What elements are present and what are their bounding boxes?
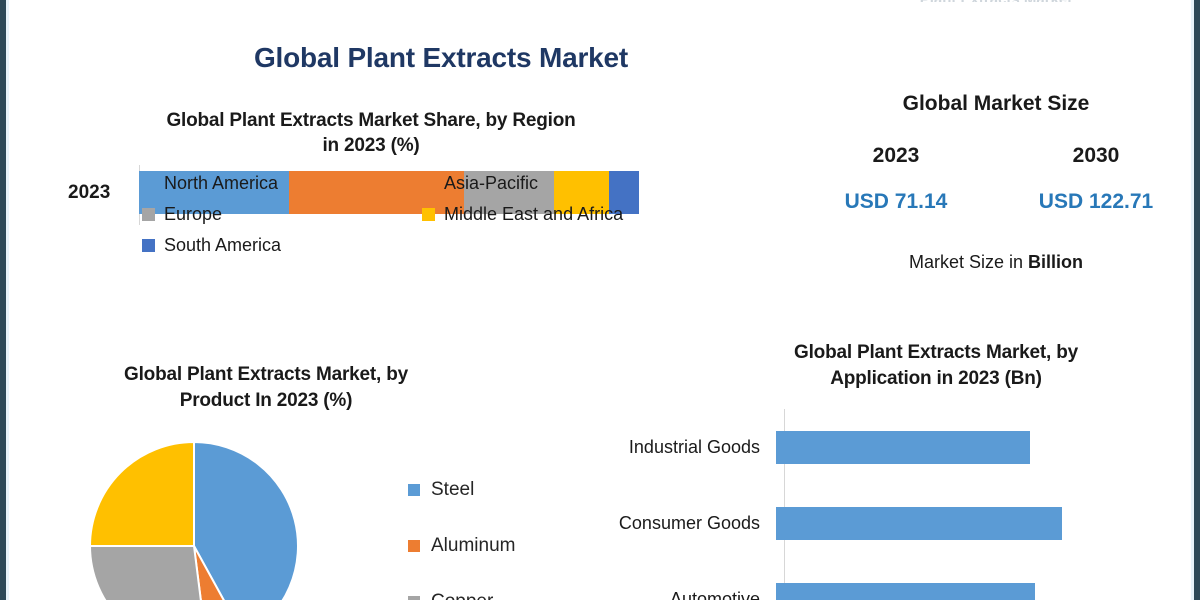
share-legend-item: South America xyxy=(142,230,422,261)
application-bar xyxy=(776,583,1035,600)
application-panel: Global Plant Extracts Market, by Applica… xyxy=(606,340,1196,600)
share-legend-label: Asia-Pacific xyxy=(444,173,538,194)
product-share-panel: Global Plant Extracts Market, by Product… xyxy=(36,362,596,413)
market-share-title: Global Plant Extracts Market Share, by R… xyxy=(46,108,696,159)
market-size-footnote: Market Size in Billion xyxy=(796,252,1196,273)
market-size-values-row: USD 71.14 USD 122.71 xyxy=(796,190,1196,214)
legend-swatch-icon xyxy=(422,208,435,221)
legend-swatch-icon xyxy=(422,177,435,190)
product-share-title-line2: Product In 2023 (%) xyxy=(36,388,496,414)
global-market-size-panel: Global Market Size 2023 2030 USD 71.14 U… xyxy=(796,92,1196,273)
pie-slice-copper xyxy=(90,546,207,600)
application-category-label: Industrial Goods xyxy=(606,437,776,458)
global-market-size-title: Global Market Size xyxy=(796,92,1196,116)
cropped-header-text: Plant Extracts Market xyxy=(886,0,1106,2)
share-legend-item: North America xyxy=(142,168,422,199)
product-pie-legend: SteelAluminumCopper xyxy=(408,462,515,600)
application-plot: Industrial GoodsConsumer GoodsAutomotive xyxy=(606,409,1196,600)
share-legend-item: Europe xyxy=(142,199,422,230)
product-legend-label: Aluminum xyxy=(431,535,515,557)
application-bar-row: Consumer Goods xyxy=(606,485,1196,561)
share-legend-label: North America xyxy=(164,173,278,194)
product-share-title-line1: Global Plant Extracts Market, by xyxy=(36,362,496,388)
application-bar xyxy=(776,507,1062,540)
application-title: Global Plant Extracts Market, by Applica… xyxy=(676,340,1196,391)
share-legend-item: Asia-Pacific xyxy=(422,168,702,199)
market-size-year-2030: 2030 xyxy=(996,144,1196,168)
market-size-value-2030: USD 122.71 xyxy=(996,190,1196,214)
legend-swatch-icon xyxy=(142,239,155,252)
legend-swatch-icon xyxy=(142,208,155,221)
legend-swatch-icon xyxy=(408,596,420,600)
application-bar-row: Automotive xyxy=(606,561,1196,600)
market-share-title-line1: Global Plant Extracts Market Share, by R… xyxy=(46,108,696,133)
share-legend-item: Middle East and Africa xyxy=(422,199,702,230)
product-legend-label: Steel xyxy=(431,479,474,501)
product-legend-item: Copper xyxy=(408,574,515,600)
pie-slice-middle-east-and-africa xyxy=(90,442,194,546)
market-size-year-2023: 2023 xyxy=(796,144,996,168)
application-category-label: Automotive xyxy=(606,589,776,600)
market-share-title-line2: in 2023 (%) xyxy=(46,133,696,158)
legend-swatch-icon xyxy=(408,484,420,496)
application-bar xyxy=(776,431,1030,464)
market-share-panel: Global Plant Extracts Market Share, by R… xyxy=(46,108,696,219)
market-size-value-2023: USD 71.14 xyxy=(796,190,996,214)
market-share-legend: North AmericaAsia-PacificEuropeMiddle Ea… xyxy=(142,168,702,261)
share-legend-label: South America xyxy=(164,235,281,256)
product-legend-item: Aluminum xyxy=(408,518,515,574)
product-pie-chart xyxy=(88,440,300,600)
product-legend-label: Copper xyxy=(431,591,493,600)
product-share-title: Global Plant Extracts Market, by Product… xyxy=(36,362,496,413)
product-pie-svg xyxy=(88,440,300,600)
share-legend-label: Middle East and Africa xyxy=(444,204,623,225)
product-legend-item: Steel xyxy=(408,462,515,518)
application-title-line1: Global Plant Extracts Market, by xyxy=(676,340,1196,366)
legend-swatch-icon xyxy=(408,540,420,552)
market-size-footnote-unit: Billion xyxy=(1028,252,1083,272)
market-size-years-row: 2023 2030 xyxy=(796,144,1196,168)
infographic-canvas: Plant Extracts Market Global Plant Extra… xyxy=(0,0,1200,600)
application-bar-row: Industrial Goods xyxy=(606,409,1196,485)
application-title-line2: Application in 2023 (Bn) xyxy=(676,366,1196,392)
market-share-category-label: 2023 xyxy=(68,182,110,204)
legend-swatch-icon xyxy=(142,177,155,190)
share-legend-label: Europe xyxy=(164,204,222,225)
page-title: Global Plant Extracts Market xyxy=(156,42,726,74)
application-category-label: Consumer Goods xyxy=(606,513,776,534)
market-size-footnote-prefix: Market Size in xyxy=(909,252,1028,272)
